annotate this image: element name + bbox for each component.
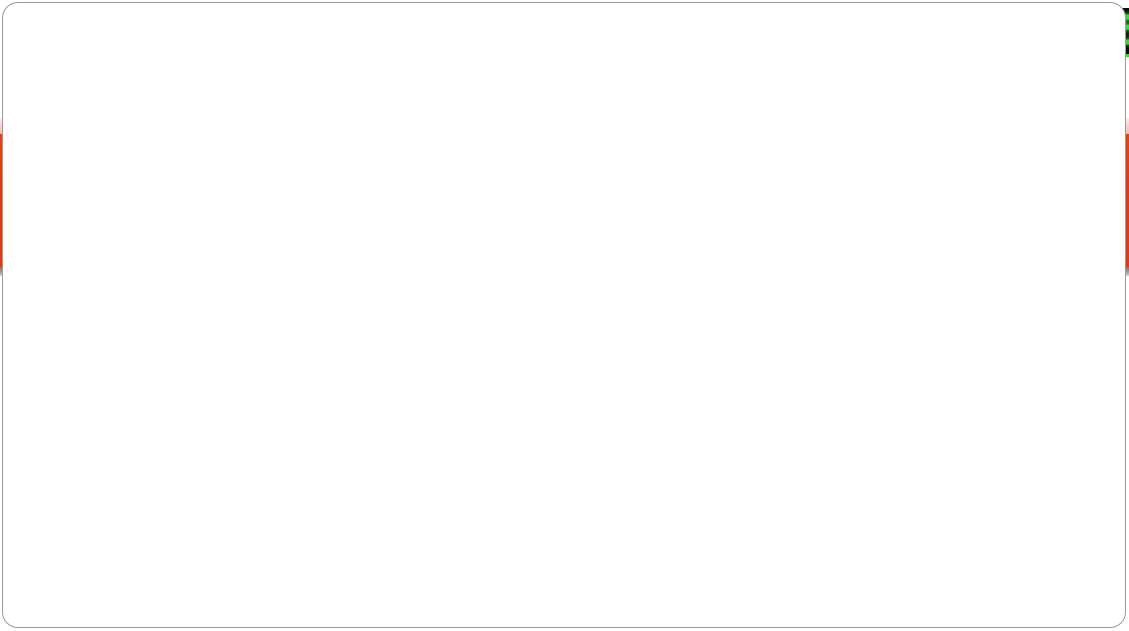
- presentation-slide: 产褥期腹痛的评估与处理 上海交通大学医学院附属第一人民医院 徐先明 19:45: [0, 0, 1129, 631]
- banner-shadow-strip: [0, 267, 1129, 277]
- slide-lower-area: 上海交通大学医学院附属第一人民医院 徐先明: [0, 278, 1129, 631]
- digital-clock-icon: 19:45: [1012, 8, 1129, 57]
- presenter-name: 徐先明: [0, 449, 1129, 484]
- slide-upper-blank-area: [0, 0, 1129, 120]
- title-banner: 产褥期腹痛的评估与处理: [0, 118, 1129, 278]
- banner-bar: 产褥期腹痛的评估与处理: [0, 134, 1129, 267]
- credits-block: 上海交通大学医学院附属第一人民医院 徐先明: [0, 372, 1129, 484]
- slide-title: 产褥期腹痛的评估与处理: [212, 168, 916, 230]
- banner-highlight-strip: [0, 118, 1129, 134]
- clock-time-readout: 19:45: [1012, 11, 1129, 51]
- affiliation-text: 上海交通大学医学院附属第一人民医院: [0, 372, 1129, 407]
